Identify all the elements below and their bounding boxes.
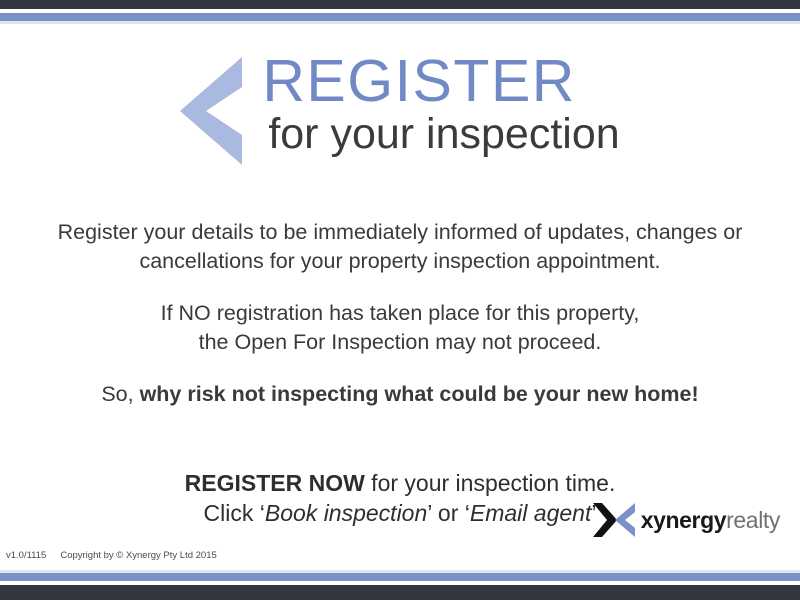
paragraph-1-line-2: cancellations for your property inspecti… (139, 249, 660, 273)
footer-meta: v1.0/1115 Copyright by © Xynergy Pty Ltd… (6, 550, 217, 561)
logo-name-realty: realty (726, 507, 780, 533)
page-subtitle: for your inspection (268, 112, 619, 157)
page-title: REGISTER (262, 53, 576, 110)
bottom-dark-bar (0, 585, 800, 600)
paragraph-register-details: Register your details to be immediately … (0, 218, 800, 275)
masthead: REGISTER for your inspection (0, 24, 800, 165)
xynergy-realty-logo: xynergyrealty (593, 503, 780, 537)
logo-wordmark: xynergyrealty (641, 509, 780, 532)
register-inspection-page: REGISTER for your inspection Register yo… (0, 0, 800, 600)
masthead-titles: REGISTER for your inspection (262, 53, 619, 157)
paragraph-1-line-1: Register your details to be immediately … (58, 220, 743, 244)
cta-click-middle: ’ or ‘ (427, 500, 470, 526)
chevron-left-icon (180, 57, 242, 165)
paragraph-3-emphasis: why risk not inspecting what could be yo… (140, 382, 699, 406)
cta-inspection-time-label: for your inspection time. (365, 470, 616, 496)
cta-click-prefix: Click ‘ (204, 500, 265, 526)
paragraph-no-registration: If NO registration has taken place for t… (0, 299, 800, 356)
bottom-blue-bar (0, 573, 800, 581)
logo-name-xynergy: xynergy (641, 507, 726, 533)
xynergy-x-mark-icon (593, 503, 635, 537)
top-dark-bar (0, 0, 800, 9)
book-inspection-action-label[interactable]: Book inspection (265, 500, 427, 526)
cta-register-now-label: REGISTER NOW (185, 470, 365, 496)
paragraph-3-lead: So, (101, 382, 139, 406)
version-label: v1.0/1115 (6, 550, 46, 561)
cta-line-register-now: REGISTER NOW for your inspection time. (0, 468, 800, 498)
top-blue-bar (0, 13, 800, 21)
email-agent-action-label[interactable]: Email agent (470, 500, 591, 526)
copyright-label: Copyright by © Xynergy Pty Ltd 2015 (60, 550, 216, 561)
paragraph-why-risk: So, why risk not inspecting what could b… (0, 380, 800, 409)
paragraph-2-line-2: the Open For Inspection may not proceed. (199, 330, 602, 354)
main-content: REGISTER for your inspection Register yo… (0, 24, 800, 570)
paragraph-2-line-1: If NO registration has taken place for t… (161, 301, 640, 325)
body-copy: Register your details to be immediately … (0, 218, 800, 409)
